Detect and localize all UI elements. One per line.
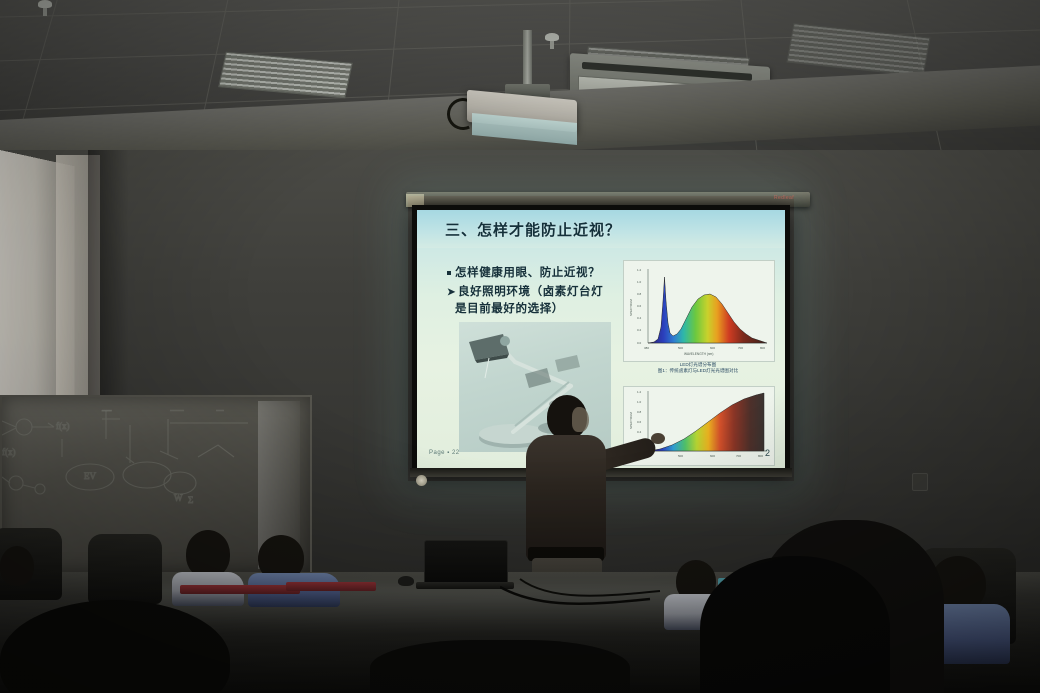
presenter-hand bbox=[651, 433, 665, 444]
svg-text:f(x): f(x) bbox=[56, 421, 70, 431]
notebook bbox=[180, 585, 300, 594]
slide-bullet-2: ➤良好照明环境（卤素灯台灯 是目前最好的选择） bbox=[447, 284, 633, 317]
slide-bullet-2-line1: 良好照明环境（卤素灯台灯 bbox=[458, 286, 603, 298]
chart-caption: LED灯光谱分布图 图1：传统卤素灯与LED灯光光谱图对比 bbox=[623, 362, 773, 374]
slide-page-number: 2 bbox=[765, 448, 770, 458]
student-head bbox=[186, 530, 230, 578]
svg-text:.....: ..... bbox=[102, 404, 112, 413]
classroom-photo-scene: f(x)f(x) EVW —Σ ................ Redleaf… bbox=[0, 0, 1040, 693]
slide-bullet-1-text: 怎样健康用眼、防止近视？ bbox=[455, 267, 600, 279]
svg-text:1.0: 1.0 bbox=[637, 400, 642, 404]
svg-text:.......: ....... bbox=[170, 404, 184, 413]
projector-mount-pole bbox=[523, 30, 532, 88]
svg-text:1.0: 1.0 bbox=[637, 280, 642, 284]
computer-mouse[interactable] bbox=[398, 576, 414, 586]
svg-text:Σ: Σ bbox=[188, 495, 193, 505]
svg-text:SPECTRUM: SPECTRUM bbox=[629, 412, 633, 429]
svg-text:1.2: 1.2 bbox=[637, 390, 642, 394]
svg-text:600: 600 bbox=[710, 346, 715, 350]
laptop[interactable] bbox=[424, 540, 508, 584]
svg-text:0.0: 0.0 bbox=[637, 341, 642, 345]
slide-page-label: Page ▪ 22 bbox=[429, 450, 460, 456]
presenter-hoodie bbox=[526, 435, 606, 560]
chair-back bbox=[88, 534, 162, 604]
svg-text:500: 500 bbox=[678, 346, 683, 350]
sprinkler-head-icon bbox=[545, 33, 559, 49]
svg-text:WAVELENGTH (nm): WAVELENGTH (nm) bbox=[684, 352, 713, 356]
svg-text:700: 700 bbox=[736, 454, 741, 458]
slide-bullet-1: 怎样健康用眼、防止近视？ bbox=[447, 264, 600, 280]
slide-bullet-2-line2: 是目前最好的选择） bbox=[455, 303, 564, 315]
chart-caption-line2: 图1：传统卤素灯与LED灯光光谱图对比 bbox=[623, 368, 773, 374]
svg-text:600: 600 bbox=[710, 454, 715, 458]
svg-text:EV: EV bbox=[84, 471, 96, 481]
sprinkler-head-icon bbox=[38, 0, 52, 16]
bullet-marker-square bbox=[447, 271, 451, 275]
foreground-silhouette bbox=[370, 640, 630, 693]
svg-text:0.6: 0.6 bbox=[637, 420, 642, 424]
svg-text:0.4: 0.4 bbox=[637, 316, 642, 320]
svg-text:500: 500 bbox=[678, 454, 683, 458]
bullet-marker-arrow-icon: ➤ bbox=[447, 287, 456, 298]
cables bbox=[500, 575, 680, 615]
notebook bbox=[286, 582, 376, 591]
wall-switch-plate bbox=[912, 473, 928, 491]
foreground-head-silhouette bbox=[700, 556, 890, 693]
svg-text:W: W bbox=[174, 493, 183, 503]
presenter-face bbox=[572, 407, 589, 432]
slide-title: 三、怎样才能防止近视？ bbox=[445, 219, 621, 240]
svg-text:0.2: 0.2 bbox=[637, 328, 642, 332]
screen-brand-logo: Redleaf bbox=[774, 195, 794, 201]
svg-text:SPECTRUM: SPECTRUM bbox=[629, 299, 633, 316]
svg-text:0.6: 0.6 bbox=[637, 304, 642, 308]
svg-text:700: 700 bbox=[738, 346, 743, 350]
svg-text:0.4: 0.4 bbox=[637, 430, 642, 434]
led-spectrum-plot: 1.21.00.8 0.60.40.2 0.0 380500600 700800… bbox=[624, 261, 774, 361]
svg-text:800: 800 bbox=[758, 454, 763, 458]
svg-text:0.8: 0.8 bbox=[637, 410, 642, 414]
svg-text:f(x): f(x) bbox=[2, 447, 16, 457]
chart-led-spectrum: 1.21.00.8 0.60.40.2 0.0 380500600 700800… bbox=[623, 260, 775, 362]
svg-text:....: .... bbox=[216, 404, 224, 413]
svg-text:800: 800 bbox=[760, 346, 765, 350]
screen-pull-knob[interactable] bbox=[416, 475, 427, 486]
svg-text:380: 380 bbox=[644, 346, 649, 350]
svg-text:1.2: 1.2 bbox=[637, 268, 642, 272]
student-head bbox=[0, 546, 34, 586]
svg-text:0.8: 0.8 bbox=[637, 292, 642, 296]
